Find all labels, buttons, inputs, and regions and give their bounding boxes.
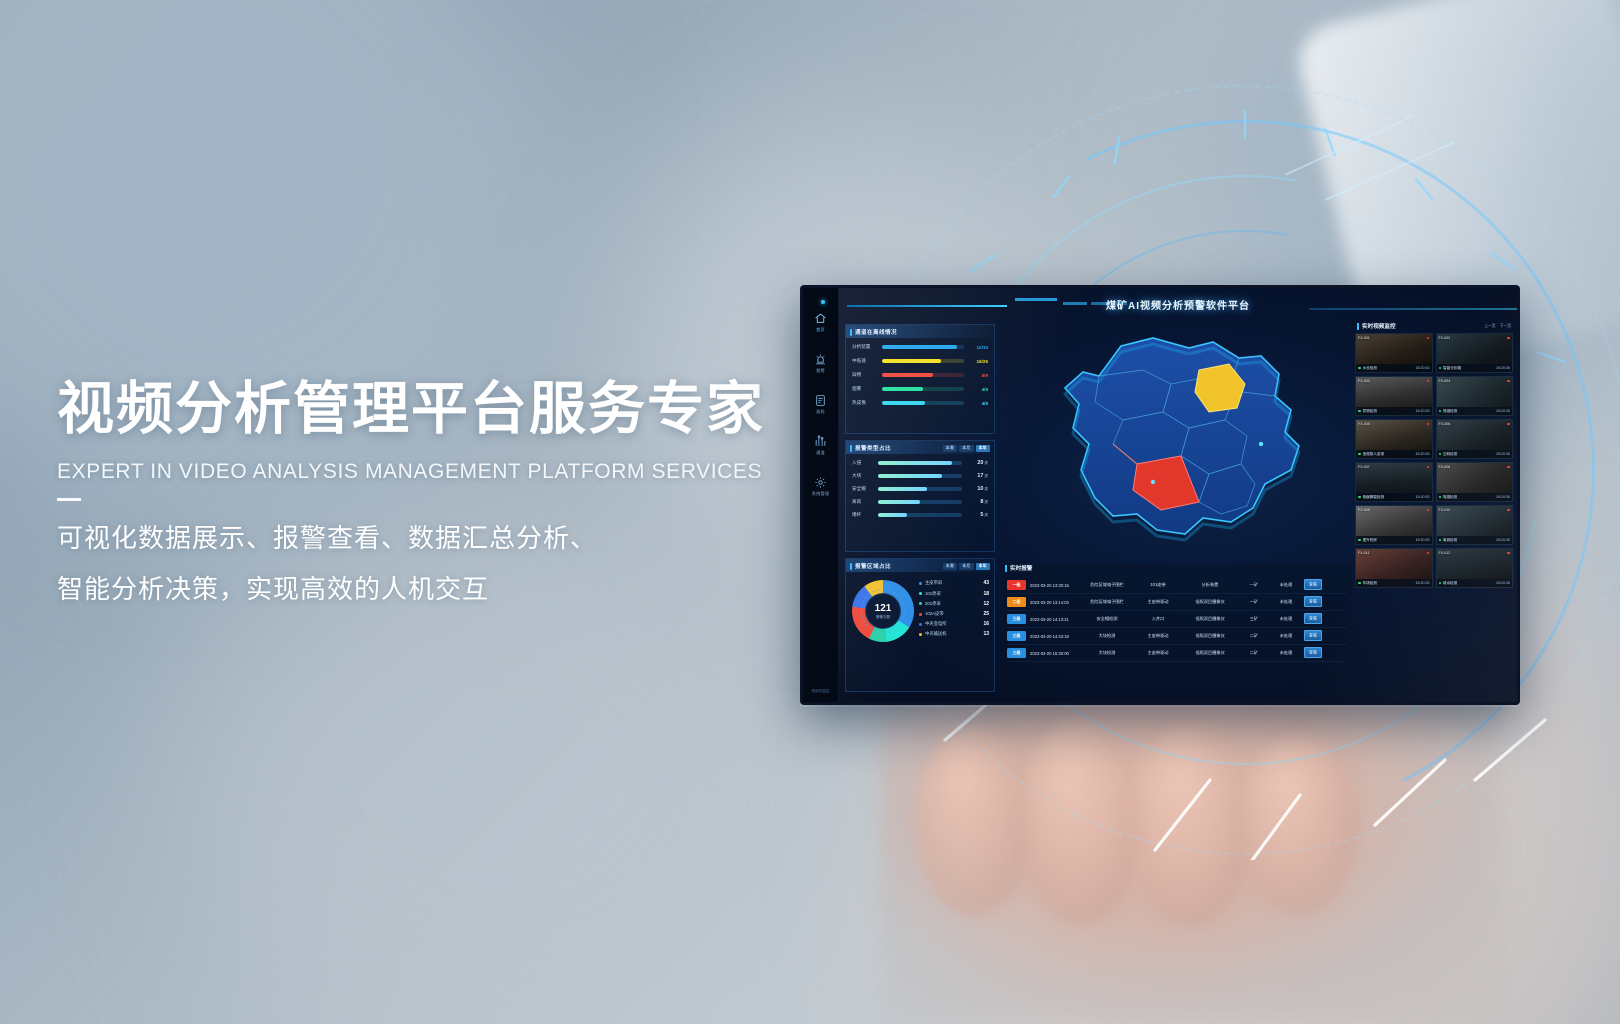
- camera-time: 15:20:30: [1496, 581, 1510, 585]
- camera-tile[interactable]: FX-005 违规乘人皮带 15:20:30: [1355, 419, 1433, 459]
- donut-total: 121: [875, 603, 892, 614]
- camera-tile[interactable]: FX-011 车场检测 15:20:30: [1355, 548, 1433, 588]
- donut-chart: 121 报警次数: [852, 580, 914, 642]
- alarm-type-row: 安全帽 10次: [852, 486, 988, 492]
- alarm-time: 2023-03-20 14:13:21: [1030, 617, 1078, 622]
- camera-id: FX-009: [1358, 508, 1370, 512]
- camera-tile[interactable]: FX-003 异物检测 15:20:30: [1355, 376, 1433, 416]
- online-row-value: 10/10: [968, 345, 988, 350]
- panel-title: 报警区域占比: [855, 562, 891, 570]
- online-row-value: 4/9: [968, 387, 988, 392]
- alarm-mine: 三矿: [1240, 616, 1268, 622]
- legend-label: 主皮带斜: [925, 580, 980, 586]
- sidebar-item-system[interactable]: 系统管理: [812, 476, 830, 497]
- alarm-location: 主皮带驱动: [1136, 633, 1180, 639]
- legend-label: 中央变电所: [925, 621, 980, 627]
- alarm-status: 未处理: [1272, 599, 1300, 605]
- legend-item: 中央输送机 13: [919, 631, 989, 637]
- status-badge: 二级: [1007, 597, 1026, 606]
- camera-name: 空转检测: [1443, 452, 1457, 457]
- alarm-location: 主皮带驱动: [1136, 650, 1180, 656]
- legend-value: 16: [983, 621, 989, 627]
- online-led: [1439, 582, 1442, 585]
- camera-name: 跑偏撕裂检测: [1363, 495, 1385, 500]
- alarm-status: 未处理: [1272, 616, 1300, 622]
- alarm-type-rows: 入侵 20次 大块 17次 安全帽 10次 离岗 8次 堵杆 5次: [846, 454, 994, 518]
- online-row-label: 中低速: [852, 358, 878, 364]
- camera-tile[interactable]: FX-004 堆煤检测 15:20:30: [1436, 376, 1514, 416]
- divider: [57, 498, 81, 501]
- camera-footer: 疏水检测 15:20:30: [1437, 579, 1513, 587]
- camera-footer: 堆煤检测 15:20:30: [1437, 493, 1513, 501]
- alarm-type: 危险区域电子围栏: [1082, 599, 1132, 605]
- online-led: [1358, 539, 1361, 542]
- legend-item: 102A皮带 25: [919, 611, 989, 617]
- alarm-type-value: 8次: [966, 499, 988, 505]
- table-row[interactable]: 三级 2023-03-20 14:13:21 安全帽检测 入井口 低照双目摄像仪…: [1007, 611, 1347, 628]
- alarm-time: 2023-03-20 13:14:03: [1030, 600, 1078, 605]
- recording-indicator: [1507, 552, 1510, 555]
- alarm-type-label: 堵杆: [852, 512, 874, 518]
- dashboard-title: 煤矿AI视频分析预警软件平台: [1106, 297, 1250, 312]
- video-pagination[interactable]: 上一页 下一页: [1484, 324, 1511, 329]
- online-row: 异物 5/9: [852, 372, 988, 378]
- sidebar-label: 首页: [816, 327, 825, 333]
- tablet-device: 首页 报警 巡检 通道 系统管理 低延时监控 煤矿AI视频分析预警软件平台: [800, 285, 1520, 705]
- progress-track: [878, 474, 962, 477]
- panel-header: 实时视频监控 上一页 下一页: [1355, 322, 1513, 333]
- camera-tile[interactable]: FX-010 离岗检测 15:20:30: [1436, 505, 1514, 545]
- legend-label: 102A皮带: [925, 611, 980, 617]
- progress-track: [878, 487, 962, 490]
- alarm-mine: 二矿: [1240, 650, 1268, 656]
- camera-tile[interactable]: FX-001 水仓检测 15:20:30: [1355, 333, 1433, 373]
- alarm-type-label: 安全帽: [852, 486, 874, 492]
- camera-time: 15:20:30: [1496, 538, 1510, 542]
- gear-icon: [814, 476, 827, 489]
- tab-本月[interactable]: 本月: [959, 563, 973, 570]
- donut-total-label: 报警次数: [876, 615, 890, 620]
- page-title: 视频分析管理平台服务专家: [57, 376, 817, 442]
- alarm-time: 2023-03-20 13:30:16: [1030, 583, 1078, 588]
- dashboard-header: 煤矿AI视频分析预警软件平台: [839, 288, 1517, 318]
- online-status-panel: 通道在离线情况 分析装置 10/10 中低速 16/25 异物 5/9 烟雾 4…: [845, 324, 995, 434]
- alarm-icon: [814, 353, 827, 366]
- progress-track: [882, 345, 964, 349]
- online-led: [1439, 539, 1442, 542]
- alarm-action[interactable]: 查看: [1304, 582, 1322, 588]
- home-icon: [814, 312, 827, 325]
- online-row-label: 分析装置: [852, 344, 878, 350]
- camera-tile[interactable]: FX-006 空转检测 15:20:30: [1436, 419, 1514, 459]
- alarm-mine: 二矿: [1240, 633, 1268, 639]
- alarm-type: 大块检测: [1082, 633, 1132, 639]
- hero-line-1: 可视化数据展示、报警查看、数据汇总分析、: [57, 513, 817, 564]
- camera-name: 水仓检测: [1363, 366, 1377, 371]
- alarm-location: 入井口: [1136, 616, 1180, 622]
- map-svg: [1003, 326, 1358, 561]
- view-button[interactable]: 查看: [1304, 596, 1322, 606]
- camera-footer: 离岗检测 15:20:30: [1437, 536, 1513, 544]
- progress-track: [878, 513, 962, 516]
- camera-name: 违规乘人皮带: [1363, 452, 1385, 457]
- tab-本年[interactable]: 本年: [976, 563, 990, 570]
- hero-copy: 视频分析管理平台服务专家 EXPERT IN VIDEO ANALYSIS MA…: [57, 376, 817, 614]
- camera-tile[interactable]: FX-007 跑偏撕裂检测 15:20:30: [1355, 462, 1433, 502]
- camera-time: 15:20:30: [1496, 409, 1510, 413]
- camera-id: FX-012: [1439, 551, 1451, 555]
- alarm-action[interactable]: 查看: [1304, 599, 1322, 605]
- table-row[interactable]: 三级 2023-03-20 15:30:00 大块检测 主皮带驱动 低照双目摄像…: [1007, 645, 1347, 662]
- panel-header: 报警区域占比 本周本月本年: [846, 559, 994, 572]
- legend-value: 25: [983, 611, 989, 617]
- camera-name: 堆煤检测: [1443, 495, 1457, 500]
- channel-icon: [814, 435, 827, 448]
- camera-grid: FX-001 水仓检测 15:20:30 FX-002 智能分析箱 15:20:…: [1355, 333, 1513, 588]
- realtime-alarm-panel: 实时报警 一级 2023-03-20 13:30:16 危险区域电子围栏 101…: [1003, 564, 1351, 694]
- camera-id: FX-005: [1358, 422, 1370, 426]
- online-led: [1439, 496, 1442, 499]
- camera-name: 疏水检测: [1443, 581, 1457, 586]
- online-led: [1439, 453, 1442, 456]
- view-button[interactable]: 查看: [1304, 579, 1322, 589]
- camera-footer: 车场检测 15:20:30: [1356, 579, 1432, 587]
- alarm-location: 101皮带: [1136, 582, 1180, 588]
- view-button[interactable]: 查看: [1304, 613, 1322, 623]
- alarm-device: 低照双目摄像仪: [1184, 633, 1236, 639]
- camera-tile[interactable]: FX-009 提升机房 15:20:30: [1355, 505, 1433, 545]
- view-button[interactable]: 查看: [1304, 630, 1322, 640]
- online-row-value: 16/25: [968, 359, 988, 364]
- alarm-action[interactable]: 查看: [1304, 616, 1322, 622]
- online-rows: 分析装置 10/10 中低速 16/25 异物 5/9 烟雾 4/9 热成像 4…: [846, 338, 994, 406]
- alarm-type-label: 大块: [852, 473, 874, 479]
- status-badge: 三级: [1007, 631, 1026, 640]
- recording-indicator: [1427, 466, 1430, 469]
- view-button[interactable]: 查看: [1304, 647, 1322, 657]
- legend-label: 101停采: [925, 591, 980, 597]
- legend-item: 中央变电所 16: [919, 621, 989, 627]
- online-row: 烟雾 4/9: [852, 386, 988, 392]
- camera-id: FX-011: [1358, 551, 1370, 555]
- camera-tile[interactable]: FX-012 疏水检测 15:20:30: [1436, 548, 1514, 588]
- online-led: [1439, 367, 1442, 370]
- recording-indicator: [1427, 423, 1430, 426]
- dashboard-screen: 首页 报警 巡检 通道 系统管理 低延时监控 煤矿AI视频分析预警软件平台: [803, 288, 1517, 702]
- sidebar-label: 通道: [816, 450, 825, 456]
- table-row[interactable]: 三级 2023-03-20 14:43:18 大块检测 主皮带驱动 低照双目摄像…: [1007, 628, 1347, 645]
- tab-本年[interactable]: 本年: [976, 445, 990, 452]
- clipboard-icon: [814, 394, 827, 407]
- alarm-time: 2023-03-20 14:43:18: [1030, 634, 1078, 639]
- panel-title: 通道在离线情况: [855, 328, 897, 336]
- progress-track: [882, 359, 964, 363]
- camera-tile[interactable]: FX-008 堆煤检测 15:20:30: [1436, 462, 1514, 502]
- recording-indicator: [1507, 337, 1510, 340]
- legend-swatch: [919, 592, 922, 595]
- tab-本月[interactable]: 本月: [959, 445, 973, 452]
- alarm-area-panel: 报警区域占比 本周本月本年 121 报警次数 主皮带斜 43 101停采 18 …: [845, 558, 995, 692]
- progress-track: [882, 401, 964, 405]
- camera-name: 车场检测: [1363, 581, 1377, 586]
- online-row-value: 4/9: [968, 401, 988, 406]
- legend-value: 43: [983, 580, 989, 586]
- alarm-mine: 一矿: [1240, 582, 1268, 588]
- alarm-action[interactable]: 查看: [1304, 650, 1322, 656]
- online-row-value: 5/9: [968, 373, 988, 378]
- camera-footer: 水仓检测 15:20:30: [1356, 364, 1432, 372]
- legend-swatch: [919, 582, 922, 585]
- alarm-mine: 一矿: [1240, 599, 1268, 605]
- sidebar-item-inspection[interactable]: 巡检: [814, 394, 827, 415]
- sidebar: 首页 报警 巡检 通道 系统管理 低延时监控: [803, 288, 839, 702]
- camera-id: FX-001: [1358, 336, 1370, 340]
- camera-footer: 提升机房 15:20:30: [1356, 536, 1432, 544]
- camera-time: 15:20:30: [1416, 538, 1430, 542]
- tab-本周[interactable]: 本周: [943, 445, 957, 452]
- alarm-table: 一级 2023-03-20 13:30:16 危险区域电子围栏 101皮带 分析…: [1003, 575, 1351, 664]
- alarm-type: 大块检测: [1082, 650, 1132, 656]
- progress-track: [882, 387, 964, 391]
- alarm-status: 未处理: [1272, 582, 1300, 588]
- alarm-type-panel: 报警类型占比 本周本月本年 入侵 20次 大块 17次 安全帽 10次 离岗 8…: [845, 440, 995, 552]
- recording-indicator: [1507, 509, 1510, 512]
- sidebar-footer-label: 低延时监控: [812, 689, 830, 694]
- alarm-type: 安全帽检测: [1082, 616, 1132, 622]
- status-badge: 三级: [1007, 648, 1026, 657]
- camera-time: 15:20:30: [1496, 366, 1510, 370]
- legend-swatch: [919, 633, 922, 636]
- region-map[interactable]: [1003, 326, 1358, 561]
- alarm-time: 2023-03-20 15:30:00: [1030, 651, 1078, 656]
- prev-page-button[interactable]: 上一页: [1484, 324, 1495, 329]
- alarm-type: 危险区域电子围栏: [1082, 582, 1132, 588]
- recording-indicator: [1427, 337, 1430, 340]
- alarm-device: 低照双目摄像仪: [1184, 616, 1236, 622]
- legend-item: 主皮带斜 43: [919, 580, 989, 586]
- progress-track: [878, 461, 962, 464]
- sidebar-item-channel[interactable]: 通道: [814, 435, 827, 456]
- camera-time: 15:20:30: [1416, 366, 1430, 370]
- legend-value: 13: [983, 631, 989, 637]
- sidebar-label: 系统管理: [812, 491, 830, 497]
- table-row[interactable]: 一级 2023-03-20 13:30:16 危险区域电子围栏 101皮带 分析…: [1007, 577, 1347, 594]
- status-dot: [821, 300, 825, 304]
- camera-name: 智能分析箱: [1443, 366, 1461, 371]
- legend-value: 18: [983, 591, 989, 597]
- legend-item: 201停采 12: [919, 601, 989, 607]
- video-monitor-panel: 实时视频监控 上一页 下一页 FX-001 水仓检测 15:20:30 FX-0…: [1355, 322, 1513, 694]
- camera-name: 堆煤检测: [1443, 409, 1457, 414]
- camera-time: 15:20:30: [1416, 495, 1430, 499]
- hero-subhead: EXPERT IN VIDEO ANALYSIS MANAGEMENT PLAT…: [57, 460, 817, 484]
- camera-footer: 堆煤检测 15:20:30: [1437, 407, 1513, 415]
- legend-label: 201停采: [925, 601, 980, 607]
- online-led: [1358, 410, 1361, 413]
- camera-footer: 智能分析箱 15:20:30: [1437, 364, 1513, 372]
- online-led: [1358, 496, 1361, 499]
- sidebar-label: 报警: [816, 368, 825, 374]
- time-range-tabs[interactable]: 本周本月本年: [943, 563, 990, 570]
- next-page-button[interactable]: 下一页: [1500, 324, 1511, 329]
- camera-time: 15:20:30: [1496, 452, 1510, 456]
- online-led: [1439, 410, 1442, 413]
- online-led: [1358, 367, 1361, 370]
- tab-本周[interactable]: 本周: [943, 563, 957, 570]
- camera-id: FX-004: [1439, 379, 1451, 383]
- online-row: 热成像 4/9: [852, 400, 988, 406]
- recording-indicator: [1507, 380, 1510, 383]
- online-row-label: 烟雾: [852, 386, 878, 392]
- recording-indicator: [1427, 552, 1430, 555]
- camera-tile[interactable]: FX-002 智能分析箱 15:20:30: [1436, 333, 1514, 373]
- alarm-type-row: 堵杆 5次: [852, 512, 988, 518]
- camera-footer: 违规乘人皮带 15:20:30: [1356, 450, 1432, 458]
- panel-header: 通道在离线情况: [846, 325, 994, 338]
- alarm-status: 未处理: [1272, 650, 1300, 656]
- alarm-type-row: 大块 17次: [852, 473, 988, 479]
- panel-title: 实时视频监控: [1362, 322, 1396, 330]
- legend-swatch: [919, 602, 922, 605]
- recording-indicator: [1507, 423, 1510, 426]
- alarm-status: 未处理: [1272, 633, 1300, 639]
- panel-title: 实时报警: [1010, 564, 1032, 572]
- alarm-type-label: 入侵: [852, 460, 874, 466]
- legend-item: 101停采 18: [919, 591, 989, 597]
- online-row: 中低速 16/25: [852, 358, 988, 364]
- online-led: [1358, 582, 1361, 585]
- sidebar-item-home[interactable]: 首页: [814, 312, 827, 333]
- camera-name: 异物检测: [1363, 409, 1377, 414]
- online-led: [1358, 453, 1361, 456]
- camera-id: FX-008: [1439, 465, 1451, 469]
- alarm-device: 分析装置: [1184, 582, 1236, 588]
- alarm-device: 低照双目摄像仪: [1184, 599, 1236, 605]
- hero-line-2: 智能分析决策，实现高效的人机交互: [57, 564, 817, 615]
- alarm-type-row: 入侵 20次: [852, 460, 988, 466]
- camera-time: 15:20:30: [1416, 409, 1430, 413]
- table-row[interactable]: 二级 2023-03-20 13:14:03 危险区域电子围栏 主皮带驱动 低照…: [1007, 594, 1347, 611]
- camera-footer: 异物检测 15:20:30: [1356, 407, 1432, 415]
- recording-indicator: [1427, 509, 1430, 512]
- donut-legend: 主皮带斜 43 101停采 18 201停采 12 102A皮带 25 中央变电…: [919, 580, 989, 641]
- online-row-label: 热成像: [852, 400, 878, 406]
- camera-id: FX-002: [1439, 336, 1451, 340]
- progress-track: [882, 373, 964, 377]
- alarm-action[interactable]: 查看: [1304, 633, 1322, 639]
- panel-header: 报警类型占比 本周本月本年: [846, 441, 994, 454]
- alarm-type-row: 离岗 8次: [852, 499, 988, 505]
- legend-value: 12: [983, 601, 989, 607]
- status-badge: 一级: [1007, 580, 1026, 589]
- camera-id: FX-006: [1439, 422, 1451, 426]
- camera-name: 离岗检测: [1443, 538, 1457, 543]
- panel-title: 报警类型占比: [855, 444, 891, 452]
- camera-time: 15:20:30: [1416, 581, 1430, 585]
- camera-id: FX-010: [1439, 508, 1451, 512]
- time-range-tabs[interactable]: 本周本月本年: [943, 445, 990, 452]
- alarm-type-label: 离岗: [852, 499, 874, 505]
- camera-footer: 空转检测 15:20:30: [1437, 450, 1513, 458]
- online-row: 分析装置 10/10: [852, 344, 988, 350]
- legend-label: 中央输送机: [925, 631, 980, 637]
- alarm-device: 低照双目摄像仪: [1184, 650, 1236, 656]
- recording-indicator: [1507, 466, 1510, 469]
- alarm-type-value: 17次: [966, 473, 988, 479]
- camera-time: 15:20:30: [1416, 452, 1430, 456]
- alarm-type-value: 10次: [966, 486, 988, 492]
- alarm-type-value: 5次: [966, 512, 988, 518]
- left-column: 通道在离线情况 分析装置 10/10 中低速 16/25 异物 5/9 烟雾 4…: [845, 324, 995, 692]
- status-badge: 三级: [1007, 614, 1026, 623]
- alarm-location: 主皮带驱动: [1136, 599, 1180, 605]
- recording-indicator: [1427, 380, 1430, 383]
- donut-center: 121 报警次数: [865, 593, 901, 629]
- donut-chart-wrap: 121 报警次数 主皮带斜 43 101停采 18 201停采 12 102A皮…: [846, 572, 994, 642]
- camera-name: 提升机房: [1363, 538, 1377, 543]
- legend-swatch: [919, 623, 922, 626]
- sidebar-item-alarm[interactable]: 报警: [814, 353, 827, 374]
- alarm-type-value: 20次: [966, 460, 988, 466]
- camera-footer: 跑偏撕裂检测 15:20:30: [1356, 493, 1432, 501]
- camera-id: FX-007: [1358, 465, 1370, 469]
- camera-time: 15:20:30: [1496, 495, 1510, 499]
- progress-track: [878, 500, 962, 503]
- panel-header: 实时报警: [1003, 564, 1351, 575]
- online-row-label: 异物: [852, 372, 878, 378]
- camera-id: FX-003: [1358, 379, 1370, 383]
- sidebar-label: 巡检: [816, 409, 825, 415]
- legend-swatch: [919, 613, 922, 616]
